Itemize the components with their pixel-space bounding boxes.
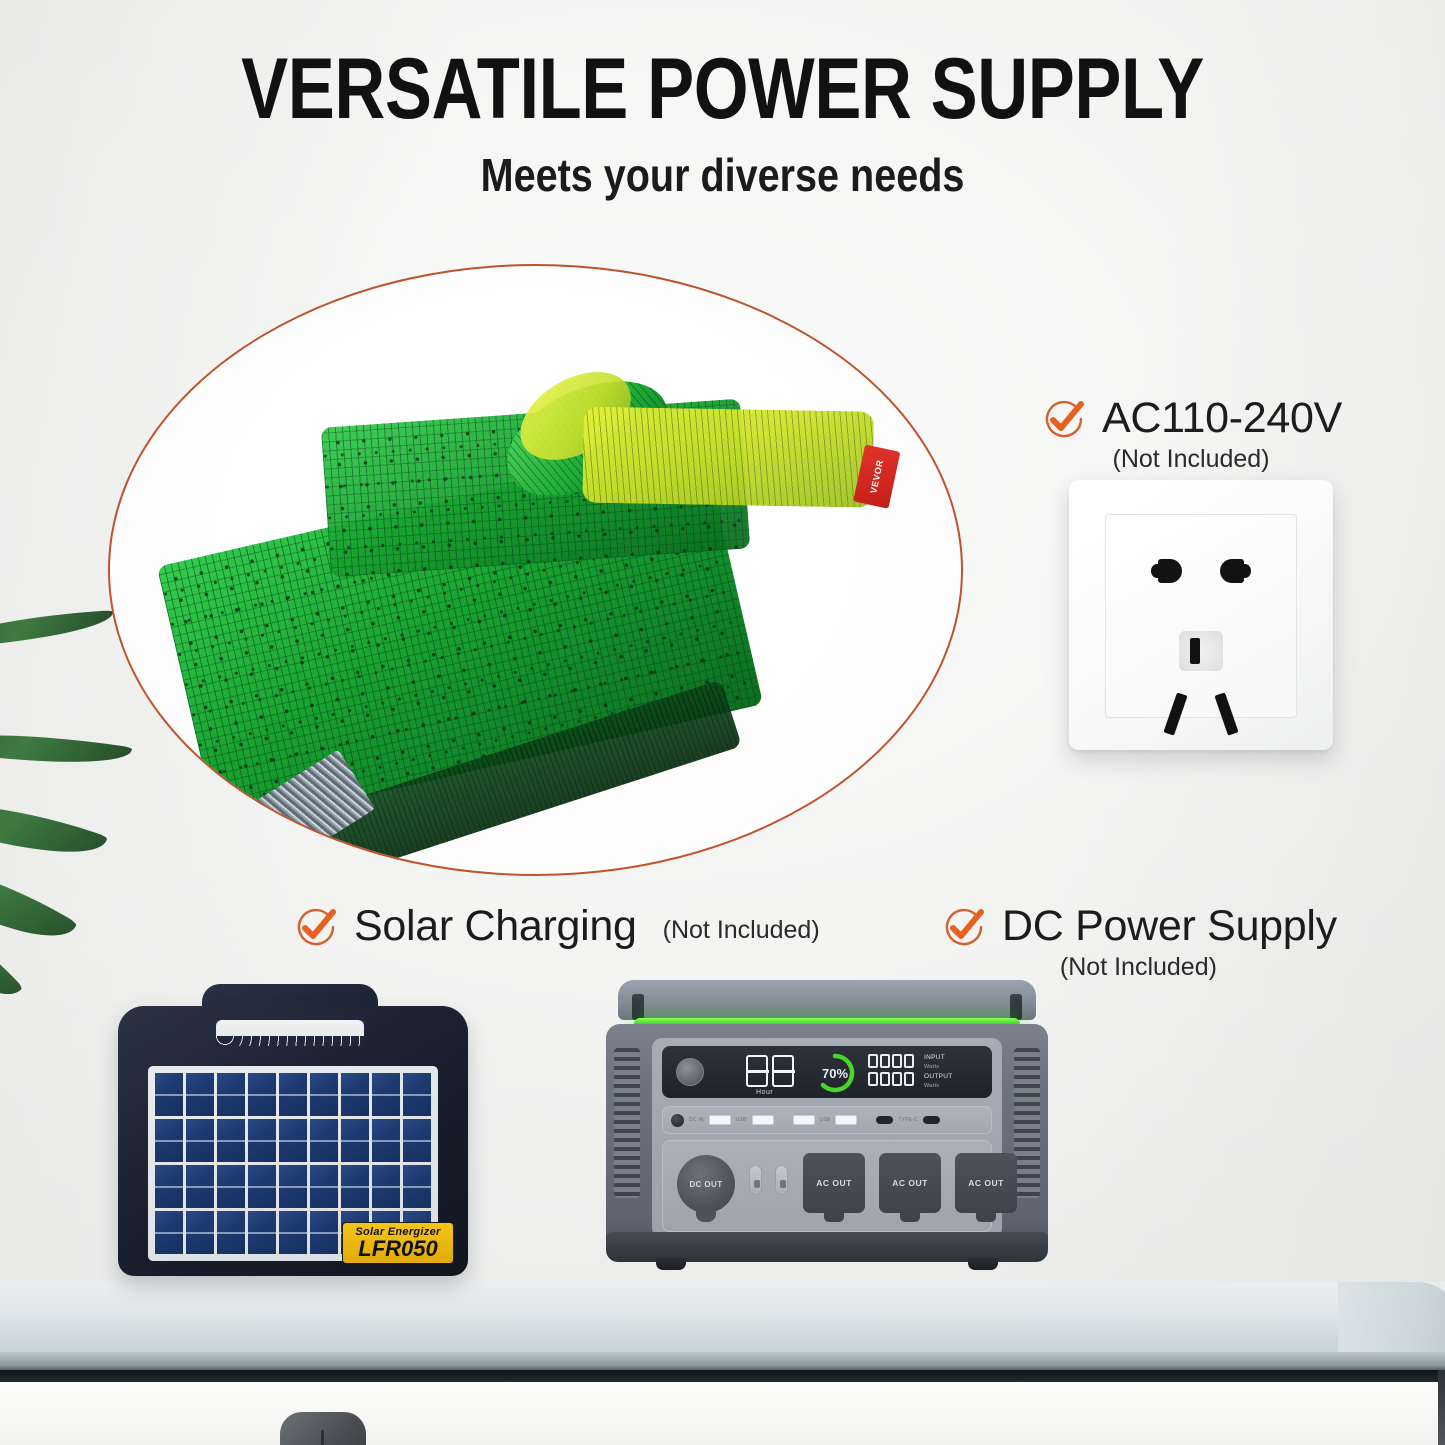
usb-a-port[interactable] (752, 1115, 774, 1125)
feature-ac-label: AC110-240V (1102, 394, 1342, 443)
solar-cell (248, 1165, 276, 1208)
aux-port-1[interactable] (749, 1165, 762, 1195)
ac-outlet-label: AC OUT (892, 1178, 928, 1188)
wall-socket (1069, 480, 1333, 750)
netting-yellow-edge (582, 407, 874, 508)
fence-netting-image: VEVOR (110, 266, 963, 876)
lcd-input-label: INPUT (924, 1054, 953, 1062)
solar-badge-model: LFR050 (358, 1238, 437, 1260)
station-body: Hour 70% (606, 1024, 1048, 1254)
dc-in-label: DC IN (689, 1117, 704, 1123)
station-lid-tab-right (1010, 994, 1022, 1020)
solar-cell (341, 1119, 369, 1162)
solar-cell (248, 1073, 276, 1116)
solar-cell (217, 1119, 245, 1162)
dc-out-label: DC OUT (689, 1180, 722, 1189)
solar-cell (186, 1073, 214, 1116)
solar-panel-frame: Solar Energizer LFR050 (118, 1006, 468, 1276)
usb-label: USB (736, 1117, 747, 1123)
feature-ac-power: AC110-240V (Not Included) (1040, 394, 1342, 474)
wall-socket-inner (1105, 514, 1297, 718)
socket-slot-angled-left (1163, 692, 1187, 735)
feature-ac-row: AC110-240V (1040, 394, 1342, 443)
dc-out-port[interactable]: DC OUT (677, 1155, 735, 1213)
cabinet-drawer (0, 1382, 1445, 1445)
solar-cell (217, 1211, 245, 1254)
solar-panel-product: Solar Energizer LFR050 (118, 984, 468, 1276)
socket-slot-angled-right (1214, 692, 1238, 735)
lcd-segment (904, 1072, 914, 1086)
battery-percent: 70% (814, 1052, 856, 1094)
feature-solar-label: Solar Charging (354, 902, 637, 951)
station-vent-left (614, 1048, 640, 1198)
usb-c-port[interactable] (923, 1116, 940, 1124)
ac-outlet[interactable]: AC OUT (803, 1153, 865, 1213)
station-port-row: DC IN USB USB TYPE-C (662, 1106, 992, 1134)
feature-dc-label: DC Power Supply (1002, 902, 1337, 951)
lcd-digit (746, 1055, 768, 1087)
lcd-segment (868, 1072, 878, 1086)
scene: VERSATILE POWER SUPPLY Meets your divers… (0, 0, 1445, 1445)
solar-cell (403, 1165, 431, 1208)
type-c-label: TYPE-C (898, 1117, 918, 1123)
feature-dc-note: (Not Included) (940, 953, 1337, 982)
aux-port-2[interactable] (775, 1165, 788, 1195)
solar-cell (155, 1119, 183, 1162)
check-circle-icon (292, 903, 340, 951)
station-lid (618, 980, 1036, 1020)
usb-a-port[interactable] (709, 1115, 731, 1125)
station-lid-tab-left (632, 994, 644, 1020)
ac-outlet[interactable]: AC OUT (955, 1153, 1017, 1213)
solar-cell (279, 1165, 307, 1208)
netting-body: VEVOR (140, 325, 820, 827)
page-subtitle: Meets your diverse needs (101, 148, 1344, 202)
solar-cell (186, 1119, 214, 1162)
solar-cell (372, 1165, 400, 1208)
feature-ac-note: (Not Included) (1040, 445, 1342, 474)
solar-cell (279, 1073, 307, 1116)
feature-solar-row: Solar Charging (Not Included) (292, 902, 820, 951)
solar-cell (217, 1073, 245, 1116)
plant-leaf (0, 610, 114, 648)
usb-label: USB (820, 1117, 831, 1123)
portable-power-station: Hour 70% (596, 980, 1058, 1280)
station-foot-right (968, 1258, 998, 1270)
station-foot-left (656, 1258, 686, 1270)
cabinet-right-gap (1438, 1370, 1445, 1445)
station-outlet-panel: DC OUT AC OUT AC OUT AC OUT (662, 1140, 992, 1232)
hero-product-ellipse: VEVOR (108, 264, 963, 876)
socket-slot-top-left (1158, 559, 1182, 583)
plant-leaf (0, 781, 108, 877)
solar-cell (248, 1211, 276, 1254)
lcd-segment (868, 1054, 878, 1068)
solar-cell (155, 1211, 183, 1254)
lcd-segment-columns (868, 1054, 914, 1090)
solar-cell (155, 1073, 183, 1116)
lcd-output-label: OUTPUT (924, 1073, 953, 1081)
solar-cell (310, 1119, 338, 1162)
power-button[interactable] (676, 1058, 704, 1086)
solar-cell (372, 1073, 400, 1116)
lcd-time-unit: Hour (756, 1089, 773, 1096)
lcd-output-unit: Watts (924, 1083, 953, 1090)
solar-cell (310, 1211, 338, 1254)
lcd-input-segments (868, 1054, 914, 1068)
feature-solar-note: (Not Included) (663, 916, 820, 951)
lcd-input-unit: Watts (924, 1064, 953, 1071)
drawer-handle[interactable] (280, 1412, 366, 1445)
lcd-output-segments (868, 1072, 914, 1086)
ac-outlet-label: AC OUT (968, 1178, 1004, 1188)
lcd-segment (892, 1054, 902, 1068)
countertop (0, 1282, 1445, 1360)
solar-cell (186, 1211, 214, 1254)
ac-outlet[interactable]: AC OUT (879, 1153, 941, 1213)
socket-ground-pin (1179, 631, 1223, 671)
usb-c-port[interactable] (876, 1116, 893, 1124)
lcd-segment (880, 1054, 890, 1068)
heading-block: VERSATILE POWER SUPPLY Meets your divers… (0, 46, 1445, 202)
solar-model-badge: Solar Energizer LFR050 (342, 1222, 454, 1264)
feature-dc-row: DC Power Supply (940, 902, 1337, 951)
solar-cell (341, 1165, 369, 1208)
socket-slot-top-right (1220, 559, 1244, 583)
lcd-io-labels: INPUT Watts OUTPUT Watts (924, 1054, 953, 1090)
usb-a-port[interactable] (835, 1115, 857, 1125)
lcd-segment (892, 1072, 902, 1086)
solar-cell (372, 1119, 400, 1162)
lcd-time-digits (746, 1055, 794, 1087)
solar-cell (155, 1165, 183, 1208)
feature-solar-charging: Solar Charging (Not Included) (292, 902, 820, 951)
solar-cell (279, 1211, 307, 1254)
lcd-io-readouts: INPUT Watts OUTPUT Watts (868, 1054, 953, 1090)
check-circle-icon (940, 903, 988, 951)
solar-cell (341, 1073, 369, 1116)
solar-cell (403, 1119, 431, 1162)
solar-cell (279, 1119, 307, 1162)
station-vent-right (1014, 1048, 1040, 1198)
brand-tag-label: VEVOR (868, 459, 885, 494)
solar-cell (186, 1165, 214, 1208)
lcd-segment (904, 1054, 914, 1068)
solar-cell (310, 1073, 338, 1116)
station-front-panel: Hour 70% (652, 1038, 1002, 1238)
lcd-digit (772, 1055, 794, 1087)
solar-handle-grip (216, 1036, 364, 1046)
solar-cell (403, 1073, 431, 1116)
check-circle-icon (1040, 395, 1088, 443)
ac-outlet-label: AC OUT (816, 1178, 852, 1188)
plant-leaf (0, 839, 77, 965)
page-title: VERSATILE POWER SUPPLY (130, 46, 1315, 134)
feature-dc-power: DC Power Supply (Not Included) (940, 902, 1337, 982)
solar-cell (248, 1119, 276, 1162)
solar-cell (217, 1165, 245, 1208)
station-lcd-screen: Hour 70% (662, 1046, 992, 1098)
lcd-segment (880, 1072, 890, 1086)
dc-in-port[interactable] (671, 1114, 684, 1127)
solar-cell (310, 1165, 338, 1208)
usb-a-port[interactable] (793, 1115, 815, 1125)
